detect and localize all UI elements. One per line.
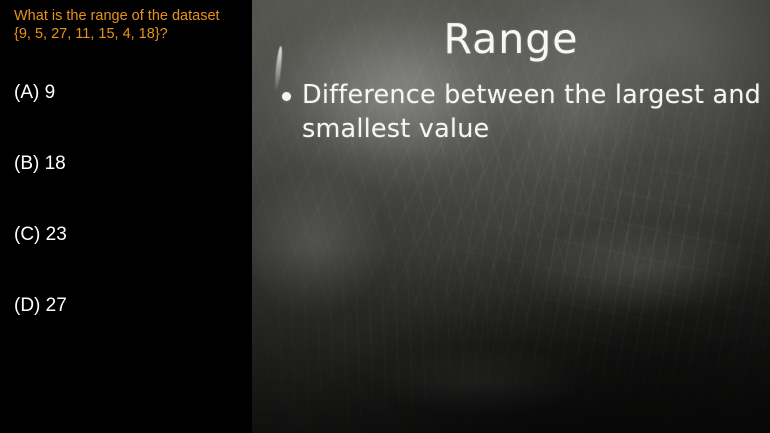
answer-options-list: (A) 9 (B) 18 (C) 23 (D) 27: [14, 82, 244, 366]
board-bullet-item: Difference between the largest and small…: [282, 78, 762, 146]
answer-option-b[interactable]: (B) 18: [14, 153, 244, 224]
answer-option-d[interactable]: (D) 27: [14, 295, 244, 366]
chalk-smudges: [252, 0, 770, 433]
chalkboard-texture-base: [252, 0, 770, 433]
board-title: Range: [252, 16, 770, 62]
board-bullet-text: Difference between the largest and small…: [302, 78, 762, 146]
bullet-dot-icon: [282, 92, 291, 101]
chalk-streaks-middle: [252, 0, 770, 433]
chalk-streaks-lower: [252, 0, 770, 433]
answer-option-a[interactable]: (A) 9: [14, 82, 244, 153]
answer-option-c[interactable]: (C) 23: [14, 224, 244, 295]
question-line-2: {9, 5, 27, 11, 15, 4, 18}?: [14, 26, 246, 44]
chalkboard-panel: Range Difference between the largest and…: [252, 0, 770, 433]
slide-screenshot: What is the range of the dataset {9, 5, …: [0, 0, 770, 433]
quiz-panel: What is the range of the dataset {9, 5, …: [0, 0, 252, 433]
question-text: What is the range of the dataset {9, 5, …: [14, 8, 246, 43]
question-line-1: What is the range of the dataset: [14, 8, 246, 26]
chalkboard-vignette: [252, 0, 770, 433]
chalk-streaks-upper: [252, 0, 770, 433]
